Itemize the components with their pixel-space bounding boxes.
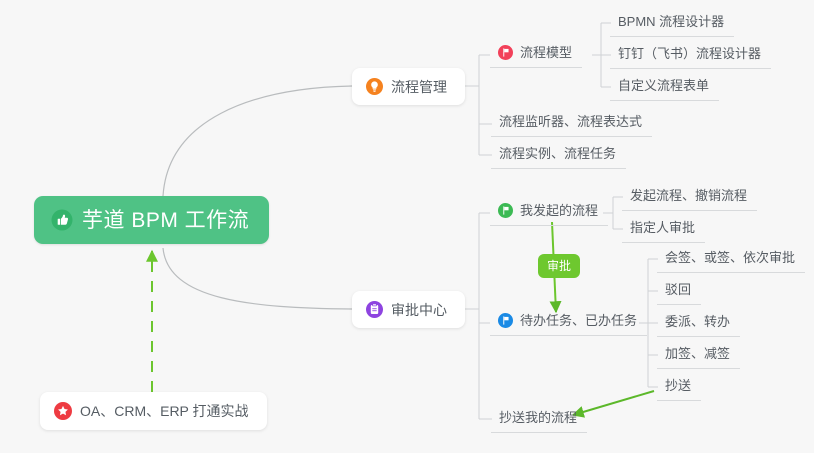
node-reject[interactable]: 驳回 (657, 278, 701, 305)
node-label-process-management: 流程管理 (391, 80, 447, 94)
node-label-reject: 驳回 (665, 281, 691, 299)
node-label-cc: 抄送 (665, 377, 691, 395)
node-integration-practice[interactable]: OA、CRM、ERP 打通实战 (40, 392, 267, 430)
flag-icon (498, 203, 513, 218)
tag-approval[interactable]: 审批 (538, 254, 580, 278)
node-label-bpmn-designer: BPMN 流程设计器 (618, 13, 724, 31)
node-label-todo-done-tasks: 待办任务、已办任务 (520, 312, 637, 330)
flag-icon (498, 45, 513, 60)
node-label-cc-to-me: 抄送我的流程 (499, 409, 577, 427)
node-bpmn-designer[interactable]: BPMN 流程设计器 (610, 10, 734, 37)
node-todo-done-tasks[interactable]: 待办任务、已办任务 (490, 309, 647, 336)
flag-icon (498, 313, 513, 328)
node-process-management[interactable]: 流程管理 (352, 68, 465, 105)
node-assigned-approver[interactable]: 指定人审批 (622, 216, 705, 243)
mindmap-canvas: 芋道 BPM 工作流 流程管理 流程模型 BPMN 流程设计器 钉钉（飞书）流程 (0, 0, 814, 453)
node-process-instance[interactable]: 流程实例、流程任务 (491, 142, 626, 169)
thumbs-up-icon (51, 209, 73, 231)
star-icon (54, 402, 72, 420)
node-start-cancel-process[interactable]: 发起流程、撤销流程 (622, 184, 757, 211)
node-label-process-listener: 流程监听器、流程表达式 (499, 113, 642, 131)
node-label-custom-form: 自定义流程表单 (618, 77, 709, 95)
root-node[interactable]: 芋道 BPM 工作流 (34, 196, 269, 244)
node-label-process-model: 流程模型 (520, 44, 572, 62)
node-approval-center[interactable]: 审批中心 (352, 291, 465, 328)
node-label-assigned-approver: 指定人审批 (630, 219, 695, 237)
node-cc[interactable]: 抄送 (657, 374, 701, 401)
node-label-dingtalk-designer: 钉钉（飞书）流程设计器 (618, 45, 761, 63)
node-label-countersign: 会签、或签、依次审批 (665, 249, 795, 267)
node-countersign[interactable]: 会签、或签、依次审批 (657, 246, 805, 273)
node-label-add-remove-sign: 加签、减签 (665, 345, 730, 363)
node-dingtalk-designer[interactable]: 钉钉（飞书）流程设计器 (610, 42, 771, 69)
node-cc-to-me[interactable]: 抄送我的流程 (491, 406, 587, 433)
root-label: 芋道 BPM 工作流 (82, 210, 249, 231)
link-root-to-approval-center (163, 248, 352, 309)
node-delegate-transfer[interactable]: 委派、转办 (657, 310, 740, 337)
node-label-integration-practice: OA、CRM、ERP 打通实战 (80, 404, 249, 418)
node-label-approval-center: 审批中心 (391, 303, 447, 317)
node-process-model[interactable]: 流程模型 (490, 41, 582, 68)
node-label-process-instance: 流程实例、流程任务 (499, 145, 616, 163)
node-label-delegate-transfer: 委派、转办 (665, 313, 730, 331)
lightbulb-icon (366, 78, 383, 95)
link-root-to-process-management (163, 86, 352, 196)
node-label-start-cancel-process: 发起流程、撤销流程 (630, 187, 747, 205)
node-my-started-process[interactable]: 我发起的流程 (490, 199, 608, 226)
clipboard-icon (366, 301, 383, 318)
node-process-listener[interactable]: 流程监听器、流程表达式 (491, 110, 652, 137)
node-label-my-started-process: 我发起的流程 (520, 202, 598, 220)
node-add-remove-sign[interactable]: 加签、减签 (657, 342, 740, 369)
node-custom-form[interactable]: 自定义流程表单 (610, 74, 719, 101)
